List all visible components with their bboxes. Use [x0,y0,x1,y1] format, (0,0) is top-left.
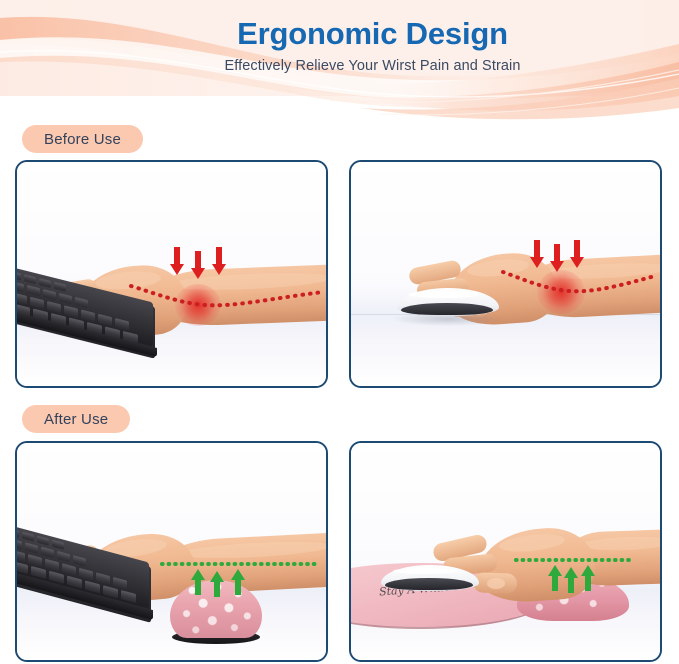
pressure-arrow-down-2 [549,244,564,272]
page-title: Ergonomic Design [0,16,679,52]
pressure-arrow-down-2 [190,251,205,279]
header-banner: Ergonomic Design Effectively Relieve You… [0,0,679,122]
support-arrow-up-2 [209,571,224,597]
mouse-highlight [409,291,479,298]
pressure-arrow-down-1 [529,240,544,268]
support-arrow-up-3 [230,569,245,595]
scene-before-keyboard [17,162,326,386]
section-badge-before-use: Before Use [22,125,143,153]
scene-after-keyboard [17,443,326,660]
page-subtitle: Effectively Relieve Your Wirst Pain and … [0,58,679,74]
strain-dotted-line [499,264,659,296]
thumbnail [487,578,505,589]
strain-dotted-line [127,274,326,310]
pressure-arrow-down-3 [569,240,584,268]
panel-after-keyboard [15,441,328,662]
support-arrow-up-1 [190,569,205,595]
panel-after-mouse: Stay A While [349,441,662,662]
pressure-arrow-down-1 [169,247,184,275]
support-arrow-up-1 [547,565,562,591]
support-dotted-line [159,559,321,569]
mouse-underside [401,303,493,315]
pressure-arrow-down-3 [211,247,226,275]
mouse-underside [385,578,473,590]
support-dotted-line [513,555,635,565]
panel-before-mouse [349,160,662,388]
scene-before-mouse [351,162,660,386]
mouse-highlight [393,568,457,574]
support-arrow-up-3 [580,565,595,591]
section-badge-after-use: After Use [22,405,130,433]
support-arrow-up-2 [563,567,578,593]
scene-after-mouse: Stay A While [351,443,660,660]
panel-before-keyboard [15,160,328,388]
